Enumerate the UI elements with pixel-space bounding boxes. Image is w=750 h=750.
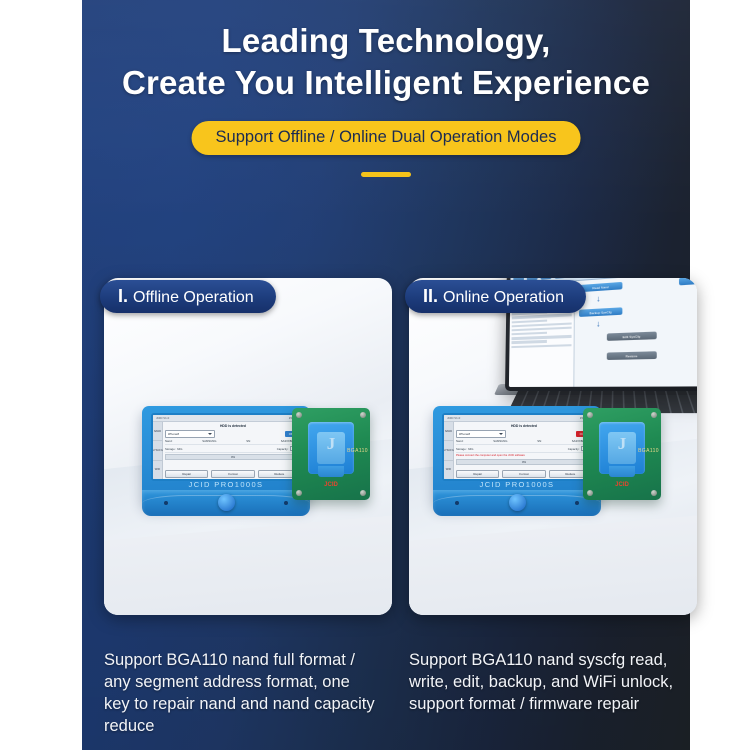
side-tab-nand-2[interactable]: NAND [444,422,453,441]
device-led-right [284,501,288,505]
nand-label: Nand: [165,439,172,443]
info-row-nand: Nand: SAMSUNG SN: SA3XXB829351 [165,439,301,445]
device-led-left-2 [455,501,459,505]
headline-line-2: Create You Intelligent Experience [82,64,690,102]
device-led-right-2 [575,501,579,505]
product-marketing-image: Leading Technology, Create You Intellige… [0,0,750,750]
screen-status-left-2: JCID V1.0 [447,416,460,420]
device-led-left [164,501,168,505]
side-tab-wifi[interactable]: WIFI [153,461,162,480]
nand-label-2: Nand: [456,439,463,443]
flow-node-read[interactable]: Read Nand [579,282,622,292]
module-side-text: BGA110 [347,448,368,454]
repair-button[interactable]: Repair [165,470,208,478]
online-photo-card: JCID Nand Programmer V1.0 [409,278,697,615]
flow-node-write[interactable]: Write Nand [679,278,697,285]
section-badge-offline: I.Offline Operation [100,280,276,313]
screen-title-2: HDD is detected [456,424,592,428]
support-modes-banner: Support Offline / Online Dual Operation … [192,121,581,155]
software-flow-panel: Read Nand Write Nand ↓ Backup SysCfg ↓ E… [574,278,697,387]
device-brand-label: JCID PRO1000S [142,480,310,489]
screen-status-left: JCID V1.0 [156,416,169,420]
section-badge-online: II.Online Operation [405,280,586,313]
offline-photo-card: JCID V1.0 15:20:46 NAND SYSCFG WIFI HDD … [104,278,392,615]
device-power-button-2[interactable] [509,494,526,511]
module-side-text-2: BGA110 [638,448,659,454]
module-logo: JCID [292,482,370,488]
storage-value: 64G [177,447,182,451]
side-tab-nand[interactable]: NAND [153,422,162,441]
device-screen-online: JCID V1.0 15:21:05 NAND SYSCFG WIFI HDD … [442,413,596,481]
sn-label-2: SN: [537,439,542,443]
device-screen-offline: JCID V1.0 15:20:46 NAND SYSCFG WIFI HDD … [151,413,305,481]
headline-line-1: Leading Technology, [82,22,690,60]
section-title-2: Online Operation [443,289,564,306]
model-select[interactable]: iPhone8 [165,430,215,438]
capacity-label-2: Capacity: [568,447,580,451]
storage-label-2: Storage: [456,447,467,451]
screen-side-tabs-2[interactable]: NAND SYSCFG WIFI [444,422,454,480]
toolbar-icon-restore[interactable] [555,278,566,279]
module-logo-2: JCID [583,482,661,488]
model-select-2[interactable]: iPhone8 [456,430,506,438]
info-row-storage-2: Storage: 64G Capacity: 64G [456,446,592,453]
capacity-label: Capacity: [277,447,289,451]
flow-node-restore[interactable]: Restore [607,351,657,360]
bga110-module-offline: J BGA110 JCID [292,408,370,500]
progress-bar-2: 0% [456,459,592,465]
accent-divider [361,172,411,177]
online-caption: Support BGA110 nand syscfg read, write, … [409,650,685,716]
repair-button-2[interactable]: Repair [456,470,499,478]
info-row-storage: Storage: 64G Capacity: 64G [165,446,301,453]
section-title: Offline Operation [133,289,254,306]
storage-label: Storage: [165,447,176,451]
screen-warning-text: Please connect the computer and open the… [456,454,592,457]
info-row-nand-2: Nand: SAMSUNG SN: SA3XXB829351 [456,439,592,445]
format-button[interactable]: Format [211,470,254,478]
progress-bar: 0% [165,454,301,460]
bga110-module-online: J BGA110 JCID [583,408,661,500]
flow-node-backup[interactable]: Backup SysCfg [579,307,622,317]
nand-value-2: SAMSUNG [493,439,507,443]
format-button-2[interactable]: Format [502,470,545,478]
storage-value-2: 64G [468,447,473,451]
section-numeral-2: II. [423,286,438,306]
section-numeral: I. [118,286,128,306]
side-tab-syscfg-2[interactable]: SYSCFG [444,441,453,460]
offline-caption: Support BGA110 nand full format / any se… [104,650,380,738]
sn-label: SN: [246,439,251,443]
screen-side-tabs[interactable]: NAND SYSCFG WIFI [153,422,163,480]
flow-node-edit[interactable]: Edit SysCfg [607,332,657,341]
nand-value: SAMSUNG [202,439,216,443]
device-power-button[interactable] [218,494,235,511]
side-tab-syscfg[interactable]: SYSCFG [153,441,162,460]
side-tab-wifi-2[interactable]: WIFI [444,461,453,480]
device-brand-label-2: JCID PRO1000S [433,480,601,489]
screen-title: HDD is detected [165,424,301,428]
